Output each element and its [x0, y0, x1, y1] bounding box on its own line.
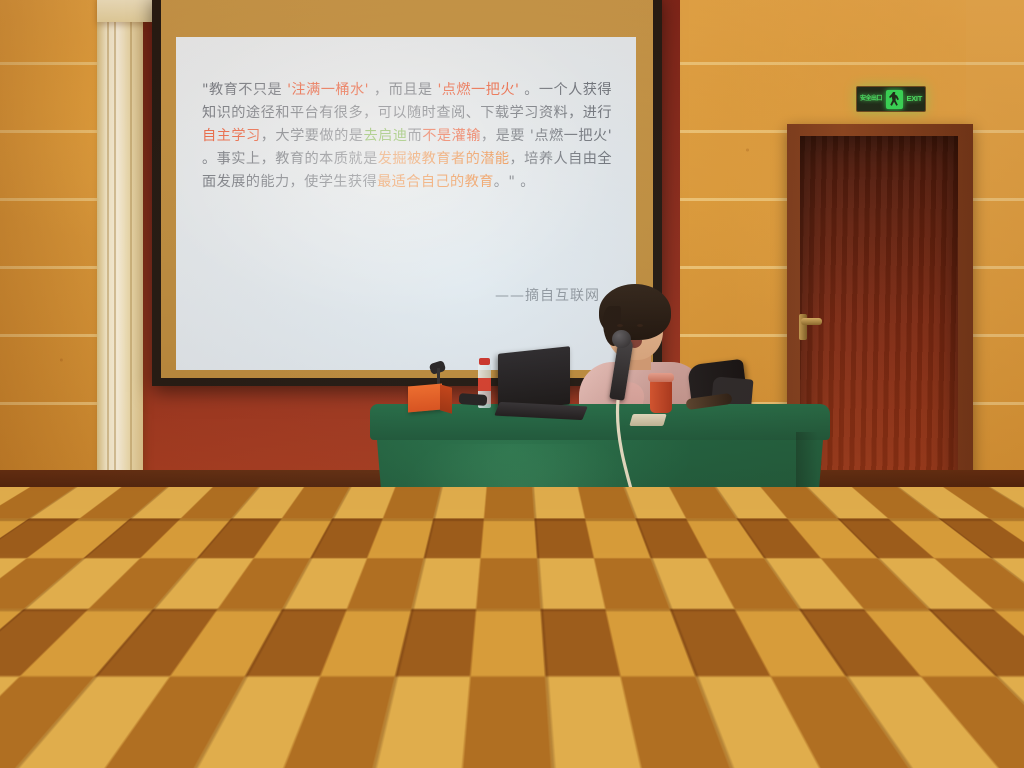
slide-text-segment-13: 最适合自己的教育: [377, 174, 494, 190]
projection-screen: 演讲课件 "教育不只是 '注满一桶水' ，而且是 '点燃一把火' 。一个人获得知…: [176, 37, 636, 370]
running-person-icon: [886, 90, 903, 109]
name-card-back: [440, 384, 452, 413]
name-card: 姓名牌: [408, 384, 442, 413]
speaker-hair: [599, 284, 671, 340]
table-fold-shadow: [796, 432, 818, 632]
slide-text-segment-14: 。" 。: [494, 174, 535, 190]
microphone-head: [612, 330, 631, 348]
desk-gadget: [459, 393, 488, 406]
slide-body: "教育不只是 '注满一桶水' ，而且是 '点燃一把火' 。一个人获得知识的途径和…: [176, 37, 636, 370]
slide-text-segment-1: '注满一桶水': [287, 82, 369, 98]
presentation-table: [370, 404, 830, 650]
slide-text-segment-11: 发掘被教育者的潜能: [378, 151, 510, 167]
slide-text-segment-6: ，大学要做的是: [261, 128, 364, 144]
door-handle[interactable]: [801, 318, 822, 325]
thermos-cup: [650, 380, 672, 413]
table-skirt: [376, 428, 824, 648]
thermos-cup-lid: [648, 373, 674, 382]
lecture-hall-scene: 演讲课件 "教育不只是 '注满一桶水' ，而且是 '点燃一把火' 。一个人获得知…: [0, 0, 1024, 768]
speaker-eye-right: [637, 324, 643, 327]
slide-text-segment-2: ，而且是: [369, 82, 437, 98]
slide-text-segment-8: 而: [408, 128, 423, 144]
mobile-phone[interactable]: [629, 414, 666, 426]
exit-sign-chinese-label: 安全出口: [860, 96, 882, 102]
slide-text-segment-0: "教育不只是: [202, 82, 287, 98]
name-card-label: 姓名牌: [820, 740, 846, 754]
exit-sign-english-label: EXIT: [907, 95, 922, 103]
exit-sign: 安全出口 EXIT: [856, 86, 926, 112]
slide-text-segment-3: '点燃一把火': [437, 82, 519, 98]
water-bottle-label: [478, 378, 491, 391]
water-bottle-cap: [479, 358, 490, 365]
slide-text-segment-9: 不是灌输: [422, 128, 481, 144]
slide-text-segment-5: 自主学习: [202, 128, 261, 144]
wall-panel-far-right: [966, 0, 1024, 500]
speaker-eye-left: [617, 324, 623, 327]
slide-quote-text: "教育不只是 '注满一桶水' ，而且是 '点燃一把火' 。一个人获得知识的途径和…: [202, 79, 612, 194]
pilaster-column: [97, 0, 143, 491]
slide-text-segment-7: 去启迪: [363, 128, 407, 144]
